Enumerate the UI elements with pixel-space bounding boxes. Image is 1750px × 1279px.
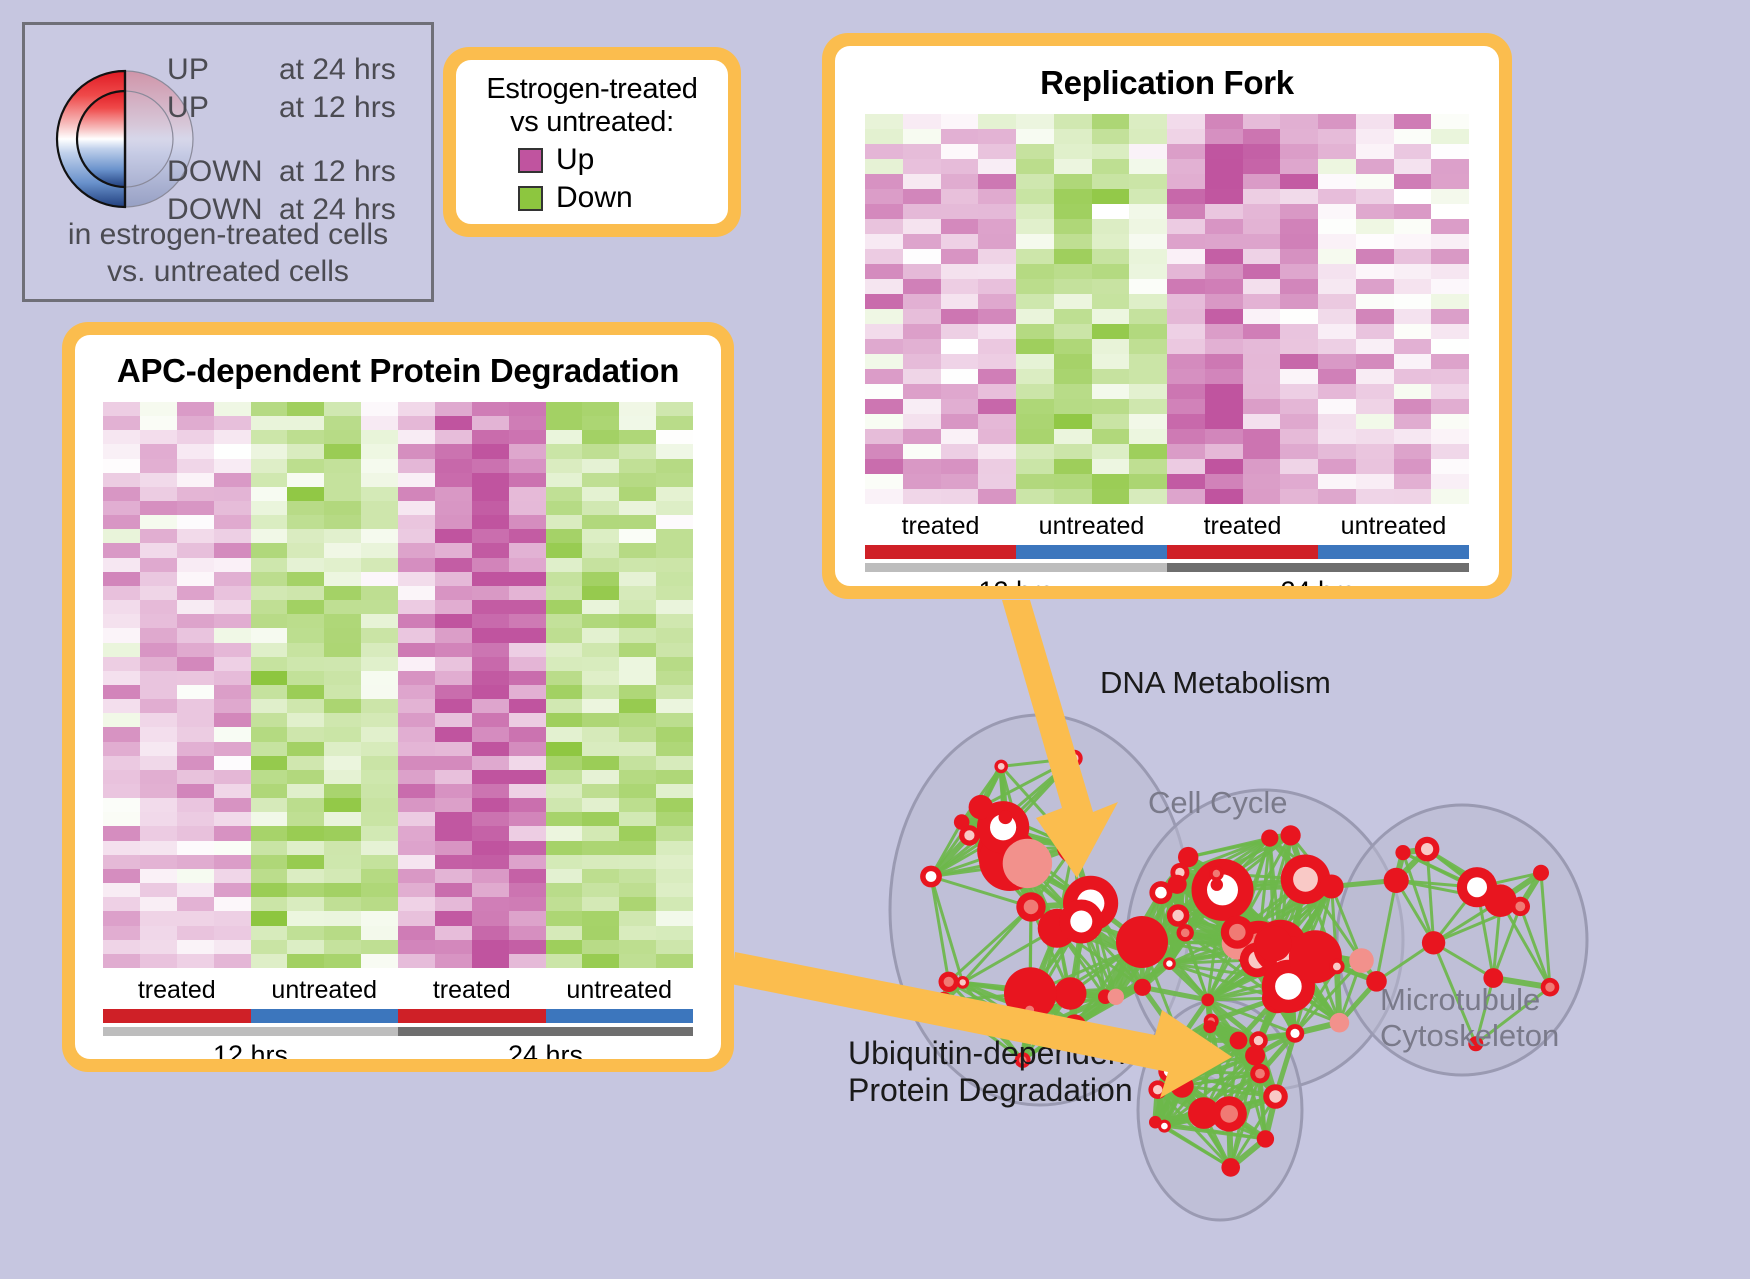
axis-apc-degradation: treateduntreatedtreateduntreated 12 hrs2… (103, 976, 693, 1059)
heatmap-cell (1318, 159, 1356, 174)
network-node-core (1254, 1036, 1263, 1045)
heatmap-cell (509, 586, 546, 600)
network-node[interactable] (1134, 979, 1151, 996)
heatmap-cell (140, 756, 177, 770)
panel-apc-degradation: APC-dependent Protein Degradation treate… (62, 322, 734, 1072)
network-node[interactable] (1330, 1013, 1350, 1033)
heatmap-cell (1280, 414, 1318, 429)
heatmap-cell (582, 841, 619, 855)
heatmap-cell (214, 954, 251, 968)
heatmap-cell (1054, 114, 1092, 129)
heatmap-replication-fork (865, 114, 1469, 504)
heatmap-cell (1318, 219, 1356, 234)
heatmap-cell (287, 543, 324, 557)
heatmap-cell (582, 459, 619, 473)
heatmap-cell (1092, 174, 1130, 189)
heatmap-cell (103, 586, 140, 600)
heatmap-cell (978, 114, 1016, 129)
heatmap-cell (435, 614, 472, 628)
heatmap-cell (1129, 414, 1167, 429)
heatmap-cell (177, 487, 214, 501)
legend-row-down-12: DOWN at 12 hrs (167, 155, 396, 189)
heatmap-cell (214, 543, 251, 557)
heatmap-cell (941, 459, 979, 474)
heatmap-cell (1356, 234, 1394, 249)
heatmap-cell (435, 812, 472, 826)
heatmap-cell (1054, 219, 1092, 234)
timepoint-label: 12 hrs (865, 576, 1167, 586)
heatmap-cell (582, 501, 619, 515)
heatmap-cell (398, 883, 435, 897)
network-node[interactable] (1054, 977, 1086, 1009)
heatmap-cell (903, 429, 941, 444)
heatmap-cell (1205, 264, 1243, 279)
heatmap-cell (1205, 399, 1243, 414)
heatmap-cell (214, 869, 251, 883)
heatmap-cell (398, 798, 435, 812)
network-node-core (926, 871, 937, 882)
network-node[interactable] (1422, 931, 1445, 954)
network-node[interactable] (1257, 1130, 1274, 1147)
network-node[interactable] (1484, 884, 1517, 917)
heatmap-cell (1167, 414, 1205, 429)
network-node[interactable] (1168, 1028, 1192, 1052)
heatmap-cell (546, 473, 583, 487)
down-swatch-icon (518, 186, 543, 211)
heatmap-cell (509, 940, 546, 954)
heatmap-cell (1129, 384, 1167, 399)
heatmap-cell (1280, 144, 1318, 159)
heatmap-cell (1394, 234, 1432, 249)
heatmap-cell (903, 489, 941, 504)
timepoint-bar-segment (103, 1027, 398, 1036)
heatmap-cell (324, 600, 361, 614)
heatmap-cell (941, 174, 979, 189)
heatmap-cell (1016, 189, 1054, 204)
network-node[interactable] (1395, 845, 1410, 860)
heatmap-cell (1205, 129, 1243, 144)
heatmap-cell (214, 727, 251, 741)
heatmap-cell (361, 727, 398, 741)
heatmap-cell (582, 543, 619, 557)
heatmap-cell (251, 402, 288, 416)
condition-label: treated (103, 976, 251, 1005)
network-node[interactable] (1384, 868, 1409, 893)
heatmap-cell (177, 572, 214, 586)
heatmap-cell (214, 798, 251, 812)
heatmap-cell (1431, 114, 1469, 129)
legend-footnote-line1: in estrogen-treated cells (25, 217, 431, 254)
heatmap-cell (1318, 354, 1356, 369)
heatmap-cell (1431, 309, 1469, 324)
heatmap-cell (619, 897, 656, 911)
heatmap-cell (582, 416, 619, 430)
heatmap-cell (1243, 264, 1281, 279)
heatmap-cell (1016, 444, 1054, 459)
heatmap-cell (361, 685, 398, 699)
heatmap-cell (582, 770, 619, 784)
heatmap-cell (177, 812, 214, 826)
heatmap-cell (1167, 234, 1205, 249)
heatmap-cell (287, 473, 324, 487)
heatmap-cell (941, 324, 979, 339)
heatmap-cell (103, 515, 140, 529)
heatmap-cell (1092, 204, 1130, 219)
heatmap-cell (251, 869, 288, 883)
heatmap-cell (619, 558, 656, 572)
heatmap-cell (619, 529, 656, 543)
network-node[interactable] (1349, 948, 1374, 973)
heatmap-cell (472, 402, 509, 416)
heatmap-cell (582, 911, 619, 925)
heatmap-cell (1431, 249, 1469, 264)
network-node-core (1515, 902, 1525, 912)
heatmap-cell (472, 897, 509, 911)
heatmap-cell (398, 430, 435, 444)
heatmap-cell (324, 713, 361, 727)
heatmap-cell (103, 869, 140, 883)
network-node[interactable] (1116, 916, 1168, 968)
heatmap-cell (619, 699, 656, 713)
network-node[interactable] (1201, 994, 1214, 1007)
heatmap-cell (1129, 159, 1167, 174)
heatmap-cell (509, 869, 546, 883)
heatmap-cell (582, 855, 619, 869)
network-node[interactable] (1171, 1075, 1194, 1098)
heatmap-cell (582, 444, 619, 458)
heatmap-cell (978, 249, 1016, 264)
condition-color-bar-apc (103, 1009, 693, 1023)
heatmap-cell (472, 911, 509, 925)
heatmap-cell (656, 430, 693, 444)
heatmap-cell (324, 940, 361, 954)
heatmap-cell (1205, 369, 1243, 384)
updown-key-title: Estrogen-treated vs untreated: (456, 60, 728, 139)
heatmap-cell (140, 742, 177, 756)
heatmap-cell (978, 444, 1016, 459)
network-node[interactable] (1320, 875, 1344, 899)
network-node[interactable] (1108, 989, 1124, 1005)
heatmap-cell (103, 784, 140, 798)
heatmap-cell (546, 671, 583, 685)
heatmap-cell (865, 219, 903, 234)
heatmap-cell (214, 416, 251, 430)
heatmap-cell (287, 940, 324, 954)
heatmap-cell (865, 144, 903, 159)
heatmap-cell (546, 572, 583, 586)
heatmap-cell (398, 473, 435, 487)
heatmap-cell (509, 742, 546, 756)
heatmap-cell (472, 487, 509, 501)
heatmap-cell (361, 812, 398, 826)
network-node[interactable] (999, 810, 1013, 824)
heatmap-cell (1356, 324, 1394, 339)
heatmap-cell (656, 770, 693, 784)
network-node[interactable] (935, 992, 953, 1010)
heatmap-cell (251, 798, 288, 812)
heatmap-cell (509, 501, 546, 515)
heatmap-cell (398, 727, 435, 741)
heatmap-cell (1054, 264, 1092, 279)
heatmap-cell (1092, 114, 1130, 129)
heatmap-cell (140, 473, 177, 487)
heatmap-cell (324, 685, 361, 699)
timepoint-bar-segment (398, 1027, 693, 1036)
heatmap-cell (546, 586, 583, 600)
heatmap-cell (140, 869, 177, 883)
heatmap-cell (1394, 174, 1432, 189)
heatmap-cell (361, 940, 398, 954)
heatmap-cell (1092, 309, 1130, 324)
heatmap-cell (656, 473, 693, 487)
heatmap-cell (1280, 324, 1318, 339)
heatmap-cell (214, 628, 251, 642)
heatmap-cell (398, 826, 435, 840)
heatmap-cell (903, 339, 941, 354)
heatmap-cell (177, 402, 214, 416)
heatmap-cell (140, 444, 177, 458)
heatmap-cell (140, 558, 177, 572)
heatmap-cell (1356, 369, 1394, 384)
heatmap-cell (140, 416, 177, 430)
heatmap-cell (1356, 399, 1394, 414)
network-node[interactable] (1188, 1097, 1220, 1129)
heatmap-cell (140, 897, 177, 911)
heatmap-cell (1129, 174, 1167, 189)
heatmap-cell (1356, 309, 1394, 324)
ubiq-label-line1: Ubiquitin-dependent (848, 1035, 1134, 1072)
heatmap-cell (1016, 489, 1054, 504)
heatmap-cell (472, 430, 509, 444)
network-node[interactable] (1221, 1158, 1240, 1177)
heatmap-cell (941, 279, 979, 294)
legend-timepoint: at 12 hrs (279, 91, 396, 125)
heatmap-cell (1394, 339, 1432, 354)
heatmap-cell (1431, 489, 1469, 504)
heatmap-cell (287, 586, 324, 600)
heatmap-cell (251, 430, 288, 444)
heatmap-cell (435, 473, 472, 487)
heatmap-cell (287, 501, 324, 515)
heatmap-cell (435, 515, 472, 529)
heatmap-cell (214, 671, 251, 685)
heatmap-cell (214, 812, 251, 826)
heatmap-cell (1167, 159, 1205, 174)
heatmap-cell (140, 940, 177, 954)
heatmap-cell (361, 501, 398, 515)
heatmap-cell (546, 713, 583, 727)
heatmap-cell (1243, 339, 1281, 354)
heatmap-cell (435, 897, 472, 911)
network-node-core (1164, 1066, 1175, 1077)
heatmap-cell (1431, 279, 1469, 294)
heatmap-cell (619, 727, 656, 741)
heatmap-cell (1054, 309, 1092, 324)
cluster-label-ubiquitin-degradation: Ubiquitin-dependent Protein Degradation (848, 1035, 1134, 1109)
heatmap-cell (941, 129, 979, 144)
heatmap-cell (287, 742, 324, 756)
heatmap-cell (472, 529, 509, 543)
heatmap-cell (1394, 144, 1432, 159)
heatmap-cell (103, 671, 140, 685)
heatmap-cell (177, 911, 214, 925)
network-node[interactable] (954, 814, 970, 830)
heatmap-cell (177, 798, 214, 812)
heatmap-cell (1356, 354, 1394, 369)
heatmap-cell (509, 529, 546, 543)
heatmap-cell (140, 798, 177, 812)
heatmap-cell (656, 614, 693, 628)
network-node[interactable] (969, 795, 993, 819)
heatmap-cell (472, 543, 509, 557)
heatmap-cell (903, 369, 941, 384)
heatmap-cell (941, 204, 979, 219)
heatmap-cell (865, 474, 903, 489)
heatmap-cell (865, 369, 903, 384)
page-title-apc-degradation: APC-dependent Protein Degradation (75, 335, 721, 390)
network-node[interactable] (1261, 830, 1278, 847)
heatmap-cell (472, 826, 509, 840)
heatmap-cell (941, 384, 979, 399)
heatmap-cell (251, 826, 288, 840)
heatmap-cell (1054, 324, 1092, 339)
heatmap-cell (1318, 204, 1356, 219)
heatmap-cell (1016, 384, 1054, 399)
condition-bar-segment (103, 1009, 251, 1023)
network-node[interactable] (1533, 865, 1549, 881)
heatmap-cell (140, 883, 177, 897)
heatmap-cell (472, 954, 509, 968)
network-node-core (1181, 929, 1190, 938)
heatmap-cell (546, 515, 583, 529)
heatmap-cell (140, 770, 177, 784)
heatmap-cell (582, 473, 619, 487)
heatmap-cell (941, 294, 979, 309)
heatmap-cell (1205, 249, 1243, 264)
network-node[interactable] (1003, 839, 1052, 888)
heatmap-cell (435, 869, 472, 883)
heatmap-cell (619, 402, 656, 416)
network-node-core (1155, 887, 1167, 899)
heatmap-cell (140, 855, 177, 869)
heatmap-cell (509, 614, 546, 628)
heatmap-cell (1356, 279, 1394, 294)
heatmap-cell (435, 558, 472, 572)
heatmap-cell (177, 416, 214, 430)
heatmap-cell (619, 883, 656, 897)
condition-bar-segment (398, 1009, 546, 1023)
heatmap-cell (398, 770, 435, 784)
heatmap-cell (1129, 219, 1167, 234)
panel-replication-fork: Replication Fork treateduntreatedtreated… (822, 33, 1512, 599)
condition-label: untreated (1016, 512, 1167, 541)
heatmap-cell (103, 699, 140, 713)
network-node[interactable] (1211, 879, 1223, 891)
heatmap-cell (435, 628, 472, 642)
heatmap-cell (656, 911, 693, 925)
heatmap-cell (251, 671, 288, 685)
heatmap-cell (656, 501, 693, 515)
heatmap-cell (978, 384, 1016, 399)
heatmap-cell (509, 713, 546, 727)
heatmap-cell (1016, 474, 1054, 489)
heatmap-cell (509, 855, 546, 869)
heatmap-cell (582, 515, 619, 529)
heatmap-cell (509, 826, 546, 840)
heatmap-cell (472, 501, 509, 515)
network-node-core (1153, 1085, 1162, 1094)
heatmap-cell (214, 600, 251, 614)
heatmap-cell (472, 600, 509, 614)
heatmap-cell (472, 416, 509, 430)
heatmap-cell (1431, 234, 1469, 249)
heatmap-cell (546, 558, 583, 572)
heatmap-cell (1243, 384, 1281, 399)
heatmap-cell (287, 671, 324, 685)
heatmap-cell (865, 399, 903, 414)
heatmap-cell (1054, 369, 1092, 384)
heatmap-cell (214, 657, 251, 671)
heatmap-cell (509, 444, 546, 458)
heatmap-cell (656, 515, 693, 529)
heatmap-cell (1054, 279, 1092, 294)
heatmap-cell (509, 572, 546, 586)
network-node[interactable] (1289, 930, 1342, 983)
heatmap-cell (1092, 474, 1130, 489)
heatmap-cell (1394, 384, 1432, 399)
heatmap-cell (214, 883, 251, 897)
heatmap-cell (435, 742, 472, 756)
heatmap-cell (1318, 384, 1356, 399)
heatmap-cell (903, 249, 941, 264)
heatmap-cell (103, 756, 140, 770)
network-node[interactable] (1230, 1032, 1248, 1050)
heatmap-cell (1431, 339, 1469, 354)
heatmap-cell (619, 756, 656, 770)
heatmap-cell (656, 685, 693, 699)
heatmap-cell (546, 869, 583, 883)
heatmap-cell (324, 501, 361, 515)
heatmap-cell (656, 883, 693, 897)
heatmap-cell (1280, 219, 1318, 234)
heatmap-cell (903, 474, 941, 489)
network-node[interactable] (1256, 926, 1292, 962)
heatmap-cell (1167, 294, 1205, 309)
heatmap-cell (1356, 114, 1394, 129)
heatmap-cell (1167, 444, 1205, 459)
heatmap-cell (619, 954, 656, 968)
heatmap-cell (656, 798, 693, 812)
heatmap-cell (1243, 159, 1281, 174)
network-node[interactable] (1168, 875, 1187, 894)
heatmap-cell (140, 600, 177, 614)
heatmap-cell (1092, 294, 1130, 309)
heatmap-cell (140, 402, 177, 416)
heatmap-cell (287, 515, 324, 529)
heatmap-cell (546, 926, 583, 940)
legend-row-up-12: UP at 12 hrs (167, 91, 396, 125)
heatmap-cell (509, 699, 546, 713)
condition-label: treated (398, 976, 546, 1005)
network-node[interactable] (1281, 825, 1301, 845)
heatmap-cell (1356, 249, 1394, 264)
heatmap-cell (656, 543, 693, 557)
legend-direction: UP (167, 91, 279, 125)
heatmap-cell (1205, 279, 1243, 294)
heatmap-cell (435, 699, 472, 713)
network-node-core (1172, 910, 1183, 921)
network-node[interactable] (1203, 1020, 1216, 1033)
